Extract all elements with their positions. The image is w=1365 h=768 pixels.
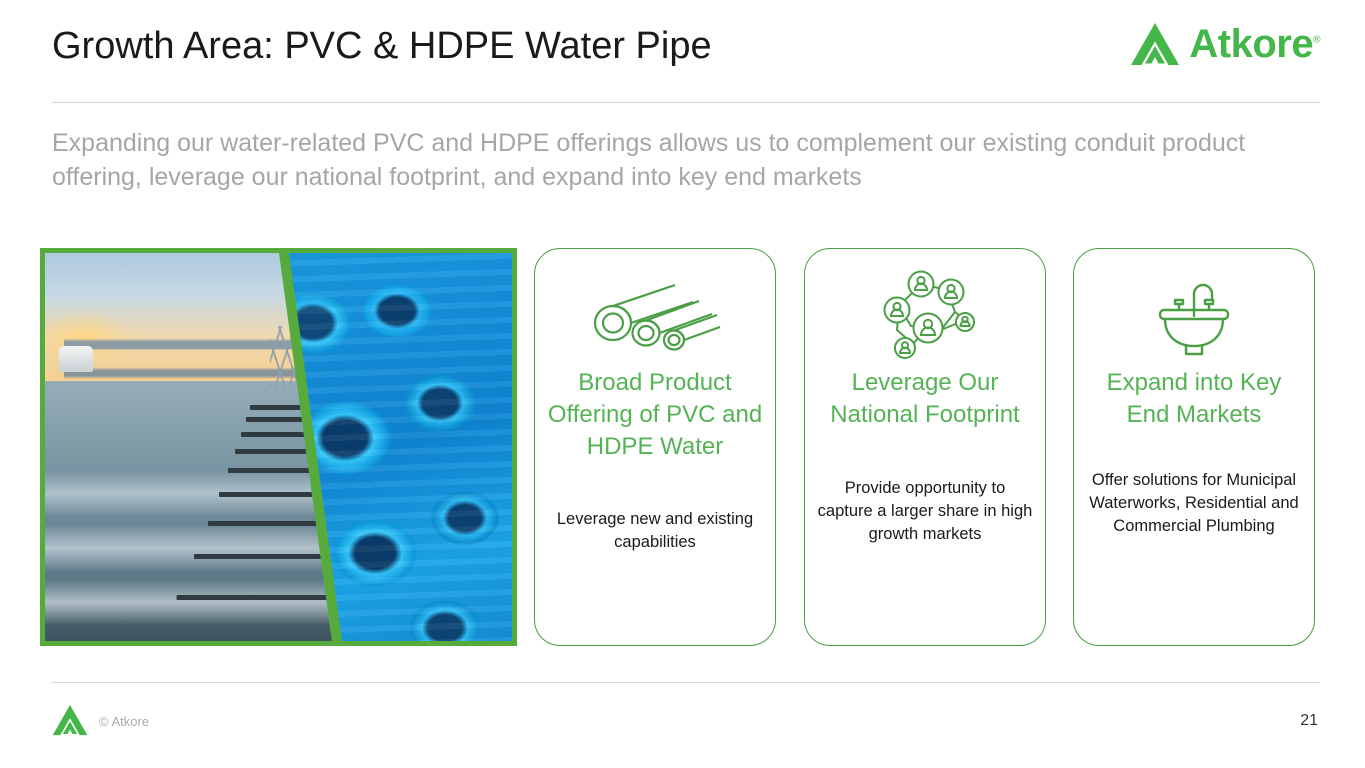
card-body: Offer solutions for Municipal Waterworks… xyxy=(1074,469,1314,538)
page-number: 21 xyxy=(1300,712,1318,730)
atkore-logo-wordmark: Atkore® xyxy=(1189,24,1320,64)
feature-card-key-end-markets[interactable]: Expand into Key End Markets Offer soluti… xyxy=(1073,248,1315,646)
card-heading: Expand into Key End Markets xyxy=(1074,367,1314,431)
page-title: Growth Area: PVC & HDPE Water Pipe xyxy=(52,25,712,68)
slide-subtitle: Expanding our water-related PVC and HDPE… xyxy=(52,126,1307,194)
feature-card-national-footprint[interactable]: Leverage Our National Footprint Provide … xyxy=(804,248,1046,646)
people-network-icon xyxy=(805,249,1045,367)
card-body: Leverage new and existing capabilities xyxy=(535,508,775,554)
atkore-triangle-logo-icon xyxy=(1130,22,1180,66)
footer-divider xyxy=(52,682,1320,683)
atkore-logo: Atkore® xyxy=(1130,22,1320,66)
footer-atkore-triangle-logo-icon xyxy=(52,704,88,736)
card-heading: Broad Product Offering of PVC and HDPE W… xyxy=(535,367,775,463)
pipes-icon xyxy=(535,249,775,367)
sink-faucet-icon xyxy=(1074,249,1314,367)
media-collage xyxy=(40,248,517,646)
slide-root: Growth Area: PVC & HDPE Water Pipe Atkor… xyxy=(0,0,1365,768)
feature-card-broad-product-offering[interactable]: Broad Product Offering of PVC and HDPE W… xyxy=(534,248,776,646)
storage-tank xyxy=(59,346,93,372)
header-divider xyxy=(52,102,1320,103)
card-heading: Leverage Our National Footprint xyxy=(805,367,1045,431)
copyright-text: © Atkore xyxy=(99,714,149,729)
card-body: Provide opportunity to capture a larger … xyxy=(805,477,1045,546)
